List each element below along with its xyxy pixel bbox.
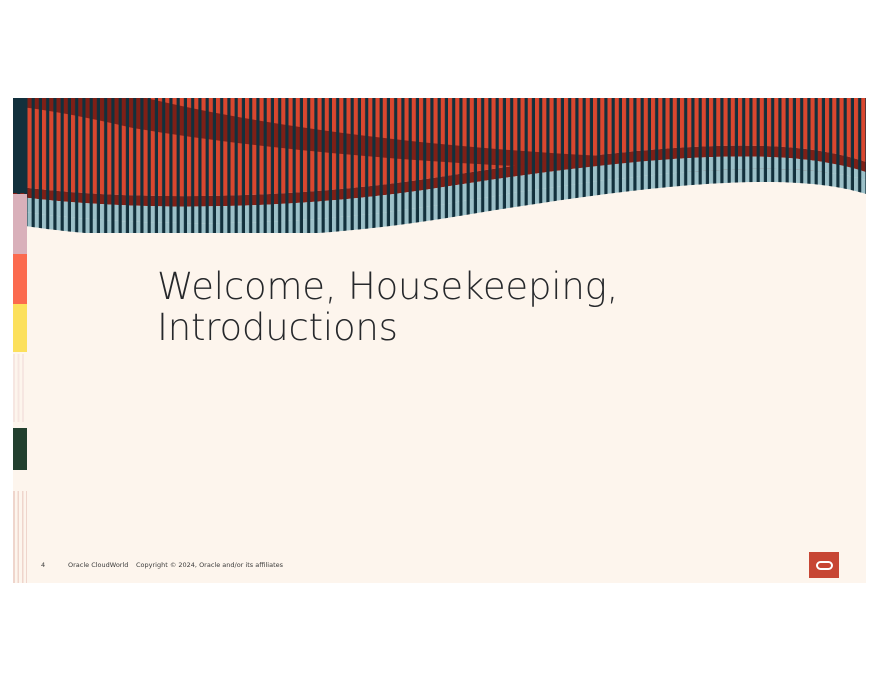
- edge-segment-coral-block: [13, 254, 27, 304]
- presentation-slide: Welcome, Housekeeping, Introductions 4 O…: [13, 98, 866, 583]
- page-title: Welcome, Housekeeping, Introductions: [157, 266, 717, 348]
- edge-segment-pale-stripes-upper: [13, 354, 27, 422]
- oracle-logo: [809, 552, 839, 578]
- edge-segment-dark-green-block: [13, 428, 27, 470]
- edge-segment-navy-block: [13, 98, 27, 193]
- footer-copyright: Copyright © 2024, Oracle and/or its affi…: [136, 561, 283, 569]
- footer-page-number: 4: [41, 561, 45, 569]
- left-color-bar: [13, 98, 27, 583]
- striped-wave-graphic: [13, 98, 866, 233]
- page-title-line-2: Introductions: [157, 307, 717, 348]
- wave-artwork-svg: [13, 98, 866, 233]
- slide-footer: 4 Oracle CloudWorld Copyright © 2024, Or…: [13, 557, 866, 575]
- footer-event-name: Oracle CloudWorld: [68, 561, 128, 569]
- oracle-o-mark-icon: [816, 561, 833, 570]
- page-title-line-1: Welcome, Housekeeping,: [157, 266, 717, 307]
- edge-segment-dusty-pink-block: [13, 194, 27, 254]
- edge-segment-yellow-block: [13, 304, 27, 352]
